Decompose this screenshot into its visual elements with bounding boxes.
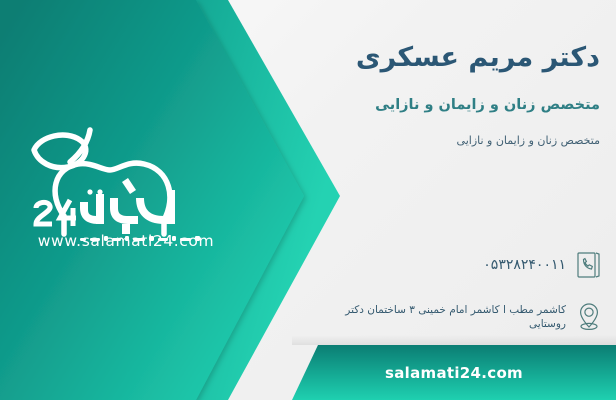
footer-bar: salamati24.com (292, 345, 616, 400)
teal-chevron-panel (0, 0, 340, 400)
footer-website[interactable]: salamati24.com (292, 345, 616, 400)
contact-list: ۰۵۳۲۸۲۴۰۰۱۱ کاشمر مطب ا کاشمر امام خمینی… (310, 246, 606, 350)
contact-row-phone: ۰۵۳۲۸۲۴۰۰۱۱ (310, 246, 606, 284)
location-pin-icon (572, 298, 606, 336)
address-text: کاشمر مطب ا کاشمر امام خمینی ۳ ساختمان د… (310, 303, 572, 331)
phone-number[interactable]: ۰۵۳۲۸۲۴۰۰۱۱ (310, 257, 572, 273)
doctor-name: دکتر مریم عسکری (320, 42, 600, 74)
phone-book-icon (572, 246, 606, 284)
business-card: www.salamati24.com دکتر مریم عسکری متخصص… (0, 0, 616, 400)
info-panel: دکتر مریم عسکری متخصص زنان و زایمان و نا… (300, 0, 616, 400)
doctor-specialty: متخصص زنان و زایمان و نازایی (320, 96, 600, 115)
doctor-specialty-secondary: متخصص زنان و زایمان و نازایی (320, 134, 600, 148)
contact-row-address: کاشمر مطب ا کاشمر امام خمینی ۳ ساختمان د… (310, 298, 606, 336)
